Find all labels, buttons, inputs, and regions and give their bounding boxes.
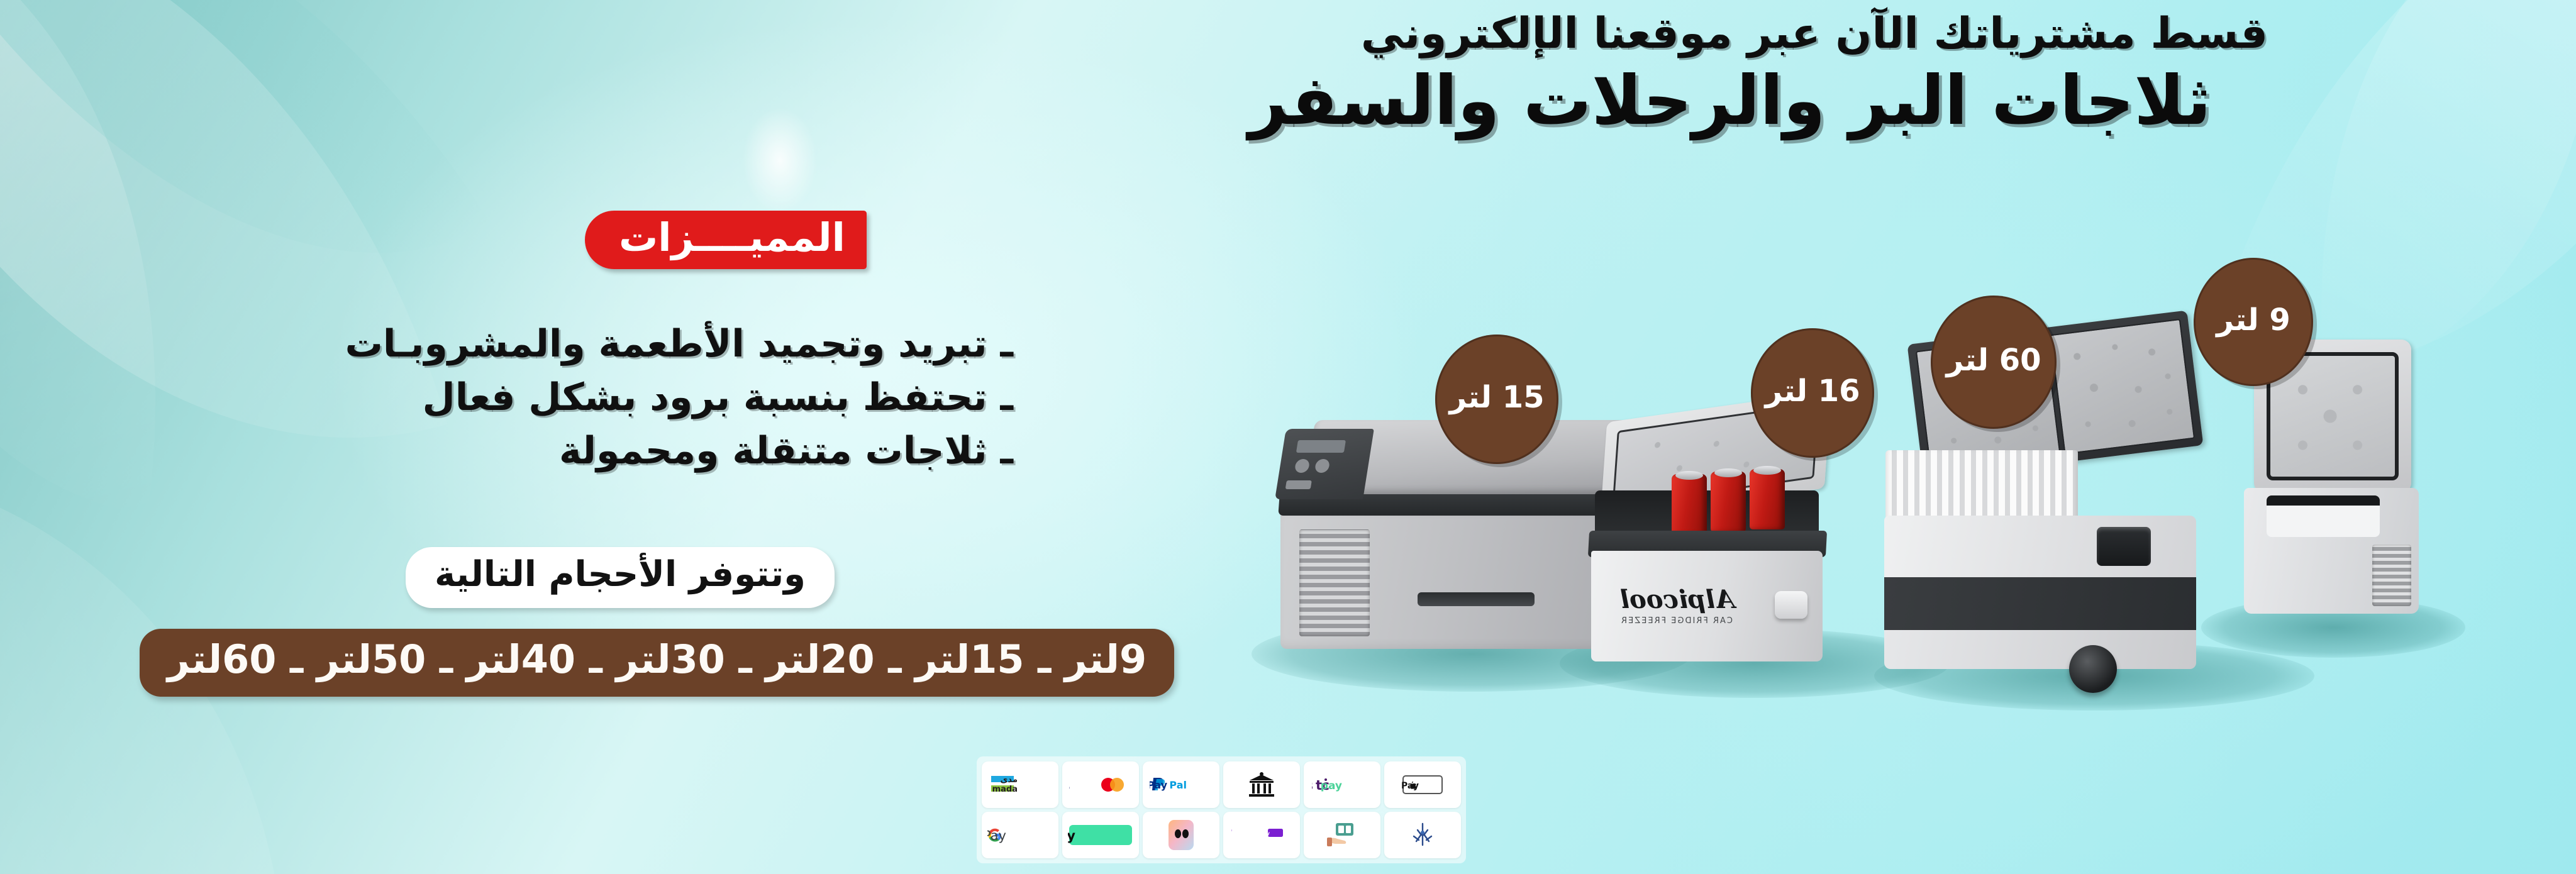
leaf-decoration-top-right-2 [2275, 0, 2576, 380]
promo-headline-secondary: ثلاجات البر والرحلات والسفر [1248, 62, 2211, 140]
visa-mastercard-icon[interactable]: VISA [1062, 761, 1139, 808]
features-list: ـ تبريد وتجميد الأطعمة والمشروبـات ـ تحت… [345, 318, 1013, 478]
promo-headline-primary: قسط مشترياتك الآن عبر موقعنا الإلكتروني [1361, 9, 2268, 58]
svg-text:Pay: Pay [1401, 781, 1419, 791]
control-panel [1275, 429, 1374, 499]
brand-label: Alpicool [1620, 585, 1735, 614]
svg-text:s: s [1312, 778, 1313, 793]
stc-pay-icon[interactable]: stcpay [1304, 761, 1380, 808]
apple-pay-icon[interactable]: Pay [1384, 761, 1461, 808]
payment-methods-grid: Pay stcpay PayPal VISA مدىmada MiSpay [977, 756, 1466, 863]
product-image-fridge-16l: Alpicool CAR FRIDGE FREEZER [1577, 407, 1904, 668]
capacity-badge-9l: 9 لتر [2194, 258, 2313, 386]
wheel [2069, 645, 2117, 693]
svg-text:Pay: Pay [1150, 779, 1168, 791]
cash-on-delivery-icon[interactable] [1304, 812, 1380, 858]
paypal-icon[interactable]: PayPal [1143, 761, 1219, 808]
light-glow [742, 107, 818, 214]
sizes-list-bar: 9لتر ـ 15لتر ـ 20لتر ـ 30لتر ـ 40لتر ـ 5… [140, 629, 1174, 697]
tabby-icon[interactable]: tabby [1062, 812, 1139, 858]
tamara-icon[interactable] [1143, 812, 1219, 858]
svg-text:tabby: tabby [1068, 828, 1075, 843]
features-badge: المميــــزات [585, 211, 867, 269]
vent-grille [1299, 529, 1370, 636]
capacity-badge-16l: 16 لتر [1751, 328, 1874, 458]
svg-text:pay: pay [1321, 780, 1342, 792]
alinma-bank-icon[interactable] [1384, 812, 1461, 858]
svg-text:mada: mada [992, 785, 1018, 794]
bank-transfer-icon[interactable] [1223, 761, 1300, 808]
side-handle [1775, 591, 1807, 619]
svg-text:Pal: Pal [1169, 779, 1187, 791]
svg-text:مدى: مدى [1001, 775, 1018, 785]
mispay-icon[interactable]: MiSpay [1223, 812, 1300, 858]
vent-grille [2372, 545, 2411, 606]
mada-icon[interactable]: مدىmada [982, 761, 1058, 808]
feature-item: ـ تبريد وتجميد الأطعمة والمشروبـات [345, 318, 1013, 371]
leaf-decoration-top-left-2 [0, 0, 226, 515]
latch-handle [2097, 527, 2151, 566]
sizes-heading: وتتوفر الأحجام التالية [406, 547, 835, 608]
capacity-badge-60l: 60 لتر [1931, 296, 2057, 429]
svg-text:MiS: MiS [1231, 826, 1233, 844]
feature-item: ـ تحتفظ بنسبة برود بشكل فعال [345, 371, 1013, 424]
google-pay-icon[interactable]: Pay [982, 812, 1058, 858]
brand-sublabel: CAR FRIDGE FREEZER [1620, 616, 1733, 626]
svg-text:VISA: VISA [1069, 779, 1070, 792]
lid-handle [1418, 592, 1535, 606]
feature-item: ـ ثلاجات متنقلة ومحمولة [345, 424, 1013, 478]
svg-text:Pay: Pay [987, 828, 1006, 843]
capacity-badge-15l: 15 لتر [1435, 335, 1558, 464]
promo-banner: قسط مشترياتك الآن عبر موقعنا الإلكتروني … [0, 0, 2576, 874]
svg-text:pay: pay [1260, 831, 1270, 836]
